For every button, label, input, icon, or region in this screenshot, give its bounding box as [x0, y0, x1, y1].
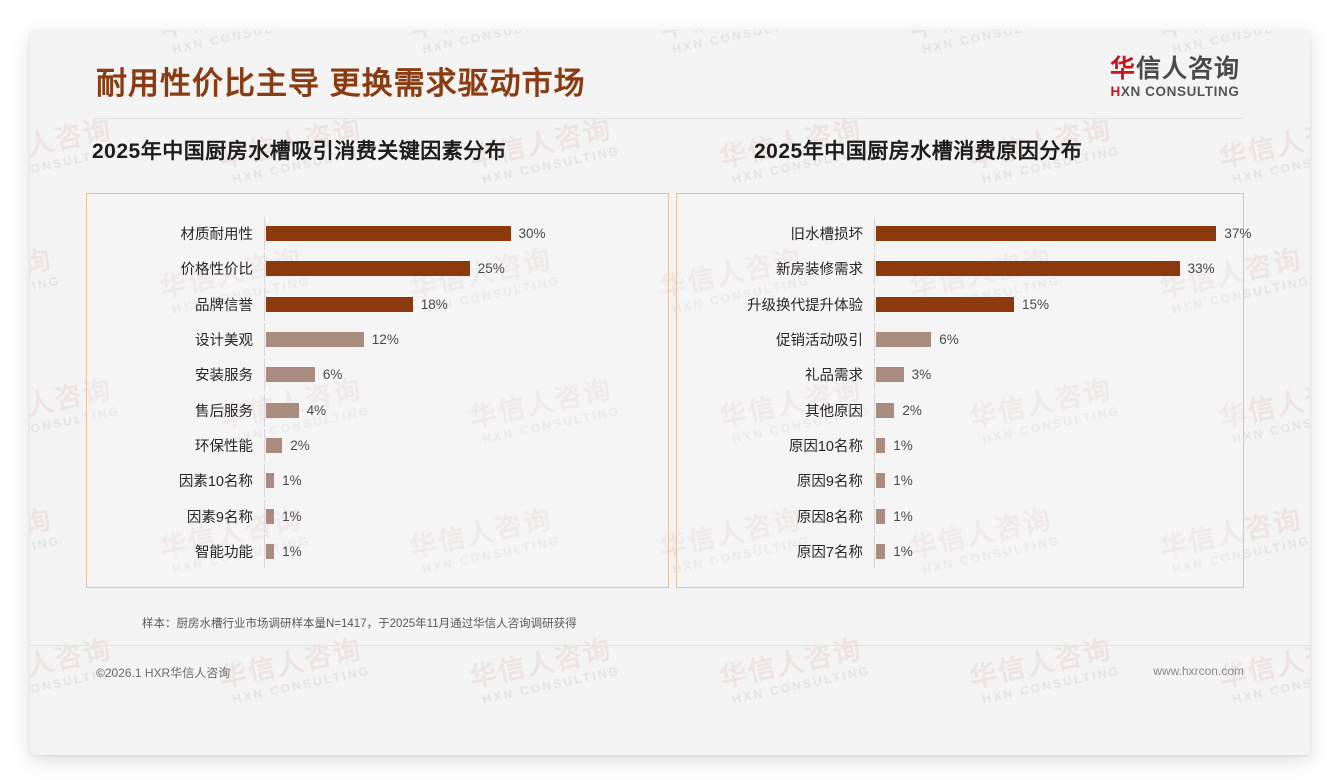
bar-track: 2%: [264, 429, 656, 462]
bar-value-label: 1%: [282, 544, 302, 559]
bar-row: 环保性能2%: [87, 429, 656, 462]
bar-category-label: 安装服务: [87, 364, 264, 385]
bar-track: 1%: [264, 535, 656, 568]
bar-value-label: 33%: [1188, 261, 1215, 276]
footer-divider: [30, 645, 1310, 646]
bar-track: 4%: [264, 394, 656, 427]
bar-row: 设计美观12%: [87, 323, 656, 356]
bar-category-label: 品牌信誉: [87, 294, 264, 315]
bar-value-label: 4%: [307, 403, 327, 418]
bar-track: 6%: [874, 323, 1231, 356]
bar: [876, 438, 885, 453]
chart-title-right: 2025年中国厨房水槽消费原因分布: [676, 135, 1286, 165]
bar-value-label: 12%: [372, 332, 399, 347]
bar-row: 促销活动吸引6%: [677, 323, 1231, 356]
bar-value-label: 30%: [519, 226, 546, 241]
bar-value-label: 2%: [902, 403, 922, 418]
chart-block-purchase-reasons: 2025年中国厨房水槽消费原因分布 旧水槽损坏37%新房装修需求33%升级换代提…: [658, 135, 1286, 588]
bar: [876, 226, 1216, 241]
bar-category-label: 升级换代提升体验: [677, 294, 874, 315]
bar: [876, 332, 931, 347]
bar-row: 价格性价比25%: [87, 252, 656, 285]
bar-row: 售后服务4%: [87, 394, 656, 427]
bar-value-label: 1%: [282, 473, 302, 488]
bar: [266, 403, 299, 418]
chart-panel-right: 旧水槽损坏37%新房装修需求33%升级换代提升体验15%促销活动吸引6%礼品需求…: [676, 193, 1244, 588]
bar-value-label: 37%: [1224, 226, 1251, 241]
bar-value-label: 18%: [421, 297, 448, 312]
bar: [876, 544, 885, 559]
charts-container: 2025年中国厨房水槽吸引消费关键因素分布 材质耐用性30%价格性价比25%品牌…: [30, 135, 1310, 588]
bar-track: 1%: [874, 429, 1231, 462]
bar-category-label: 因素10名称: [87, 470, 264, 491]
bar-track: 6%: [264, 358, 656, 391]
bar-row: 其他原因2%: [677, 394, 1231, 427]
bar-row: 品牌信誉18%: [87, 288, 656, 321]
bar-row: 因素9名称1%: [87, 500, 656, 533]
bar-track: 1%: [874, 535, 1231, 568]
bar: [266, 438, 282, 453]
bar-row: 原因7名称1%: [677, 535, 1231, 568]
bar-category-label: 原因8名称: [677, 506, 874, 527]
bar: [876, 261, 1180, 276]
bar-value-label: 1%: [893, 509, 913, 524]
bar-rows-right: 旧水槽损坏37%新房装修需求33%升级换代提升体验15%促销活动吸引6%礼品需求…: [677, 216, 1231, 569]
bar-row: 安装服务6%: [87, 358, 656, 391]
bar-value-label: 2%: [290, 438, 310, 453]
bar-category-label: 设计美观: [87, 329, 264, 350]
bar-value-label: 1%: [893, 544, 913, 559]
bar-category-label: 价格性价比: [87, 258, 264, 279]
bar-track: 37%: [874, 217, 1251, 250]
company-logo: 华信人咨询 HXN CONSULTING: [1110, 56, 1240, 99]
bar-category-label: 售后服务: [87, 400, 264, 421]
logo-accent-char: 华: [1110, 55, 1136, 83]
bar-track: 3%: [874, 358, 1231, 391]
bar-row: 旧水槽损坏37%: [677, 217, 1231, 250]
bar-category-label: 材质耐用性: [87, 223, 264, 244]
bar-track: 33%: [874, 252, 1231, 285]
slide-footer: ©2026.1 HXR华信人咨询 www.hxrcon.com: [30, 656, 1310, 696]
bar-track: 18%: [264, 288, 656, 321]
bar-value-label: 6%: [323, 367, 343, 382]
bar-track: 30%: [264, 217, 656, 250]
bar: [266, 473, 274, 488]
source-note: 样本：厨房水槽行业市场调研样本量N=1417，于2025年11月通过华信人咨询调…: [142, 615, 577, 631]
logo-chinese-rest: 信人咨询: [1136, 55, 1240, 83]
bar: [266, 544, 274, 559]
bar: [876, 403, 894, 418]
bar: [266, 297, 413, 312]
copyright-text: ©2026.1 HXR华信人咨询: [96, 664, 230, 681]
bar-category-label: 促销活动吸引: [677, 329, 874, 350]
bar-category-label: 其他原因: [677, 400, 874, 421]
bar: [266, 332, 364, 347]
bar-category-label: 原因7名称: [677, 541, 874, 562]
bar-category-label: 新房装修需求: [677, 258, 874, 279]
bar-row: 原因10名称1%: [677, 429, 1231, 462]
bar-row: 原因9名称1%: [677, 464, 1231, 497]
bar-value-label: 1%: [282, 509, 302, 524]
page-title: 耐用性价比主导 更换需求驱动市场: [96, 58, 586, 103]
website-link[interactable]: www.hxrcon.com: [1153, 664, 1244, 678]
logo-en-accent-char: H: [1111, 84, 1121, 99]
bar-row: 新房装修需求33%: [677, 252, 1231, 285]
bar-value-label: 6%: [939, 332, 959, 347]
bar-value-label: 15%: [1022, 297, 1049, 312]
slide-card: 华信人咨询HXN CONSULTING华信人咨询HXN CONSULTING华信…: [30, 30, 1310, 755]
bar-category-label: 礼品需求: [677, 364, 874, 385]
bar-category-label: 环保性能: [87, 435, 264, 456]
bar: [876, 367, 904, 382]
header-divider: [96, 118, 1244, 119]
bar: [876, 297, 1014, 312]
bar-row: 材质耐用性30%: [87, 217, 656, 250]
bar-track: 2%: [874, 394, 1231, 427]
bar-category-label: 因素9名称: [87, 506, 264, 527]
bar: [266, 261, 470, 276]
bar-category-label: 原因10名称: [677, 435, 874, 456]
bar-value-label: 25%: [478, 261, 505, 276]
bar-row: 原因8名称1%: [677, 500, 1231, 533]
bar-row: 智能功能1%: [87, 535, 656, 568]
bar-value-label: 1%: [893, 438, 913, 453]
logo-chinese-text: 华信人咨询: [1110, 56, 1240, 82]
bar-category-label: 原因9名称: [677, 470, 874, 491]
chart-title-left: 2025年中国厨房水槽吸引消费关键因素分布: [86, 135, 658, 165]
bar-value-label: 1%: [893, 473, 913, 488]
bar-track: 25%: [264, 252, 656, 285]
slide-header: 耐用性价比主导 更换需求驱动市场 华信人咨询 HXN CONSULTING: [30, 30, 1310, 126]
bar-track: 1%: [264, 500, 656, 533]
chart-block-key-factors: 2025年中国厨房水槽吸引消费关键因素分布 材质耐用性30%价格性价比25%品牌…: [30, 135, 658, 588]
chart-panel-left: 材质耐用性30%价格性价比25%品牌信誉18%设计美观12%安装服务6%售后服务…: [86, 193, 669, 588]
bar: [266, 226, 511, 241]
bar-row: 礼品需求3%: [677, 358, 1231, 391]
bar-track: 1%: [874, 464, 1231, 497]
bar-row: 升级换代提升体验15%: [677, 288, 1231, 321]
bar: [266, 509, 274, 524]
bar: [876, 509, 885, 524]
bar-value-label: 3%: [912, 367, 932, 382]
bar: [876, 473, 885, 488]
bar-category-label: 旧水槽损坏: [677, 223, 874, 244]
logo-english-text: HXN CONSULTING: [1110, 85, 1240, 99]
logo-en-rest: XN CONSULTING: [1121, 84, 1240, 99]
bar-track: 15%: [874, 288, 1231, 321]
bar: [266, 367, 315, 382]
bar-track: 1%: [874, 500, 1231, 533]
bar-track: 12%: [264, 323, 656, 356]
bar-rows-left: 材质耐用性30%价格性价比25%品牌信誉18%设计美观12%安装服务6%售后服务…: [87, 216, 656, 569]
bar-row: 因素10名称1%: [87, 464, 656, 497]
bar-track: 1%: [264, 464, 656, 497]
bar-category-label: 智能功能: [87, 541, 264, 562]
